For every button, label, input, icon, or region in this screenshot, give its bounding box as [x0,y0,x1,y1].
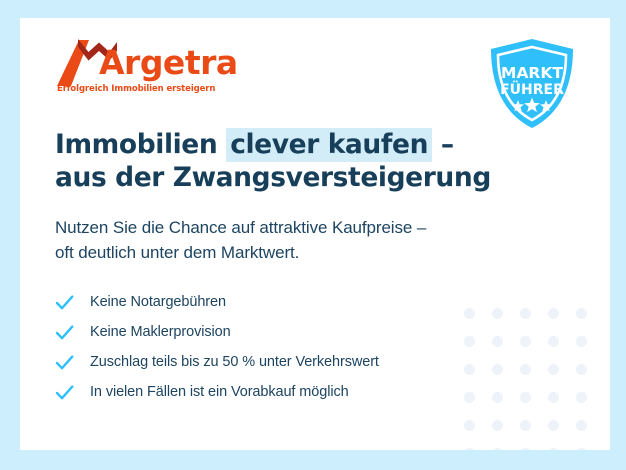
subheadline-line-1: Nutzen Sie die Chance auf attraktive Kau… [55,215,610,241]
headline-highlight: clever kaufen [226,128,432,162]
benefits-checklist: Keine Notargebühren Keine Maklerprovisio… [55,293,610,402]
decorative-dot [492,448,503,450]
markt-fuehrer-badge: MARKT FÜHRER [488,38,576,130]
subheadline: Nutzen Sie die Chance auf attraktive Kau… [55,215,610,266]
list-item: Zuschlag teils bis zu 50 % unter Verkehr… [55,353,610,372]
decorative-dot [548,448,559,450]
banner-card: MARKT FÜHRER Argetra Erfol [20,18,610,450]
decorative-dot [520,448,531,450]
list-item: Keine Maklerprovision [55,323,610,342]
subheadline-line-2: oft deutlich unter dem Marktwert. [55,240,610,266]
check-icon [55,293,74,312]
argetra-logo[interactable]: Argetra Erfolgreich Immobilien ersteiger… [55,34,230,100]
promo-banner: MARKT FÜHRER Argetra Erfol [0,0,626,470]
check-icon [55,323,74,342]
list-item-label: Keine Maklerprovision [90,324,231,340]
headline-line-2: aus der Zwangsversteigerung [55,161,610,194]
list-item-label: In vielen Fällen ist ein Vorabkauf mögli… [90,384,349,400]
decorative-dot [464,420,475,431]
badge-line1-text: MARKT [501,64,563,82]
list-item: In vielen Fällen ist ein Vorabkauf mögli… [55,383,610,402]
headline-line1-before: Immobilien [55,129,226,160]
headline: Immobilien clever kaufen – aus der Zwang… [55,128,610,195]
list-item: Keine Notargebühren [55,293,610,312]
decorative-dot [464,448,475,450]
list-item-label: Keine Notargebühren [90,294,226,310]
headline-line1-after: – [432,129,454,160]
headline-line-1: Immobilien clever kaufen – [55,128,610,161]
decorative-dot [492,420,503,431]
argetra-tagline: Erfolgreich Immobilien ersteigern [57,84,215,94]
decorative-dot [576,448,587,450]
check-icon [55,383,74,402]
badge-line2-text: FÜHRER [500,80,564,98]
decorative-dot [548,420,559,431]
check-icon [55,353,74,372]
decorative-dot [576,420,587,431]
argetra-wordmark: Argetra [99,46,238,79]
decorative-dot [520,420,531,431]
list-item-label: Zuschlag teils bis zu 50 % unter Verkehr… [90,354,379,370]
